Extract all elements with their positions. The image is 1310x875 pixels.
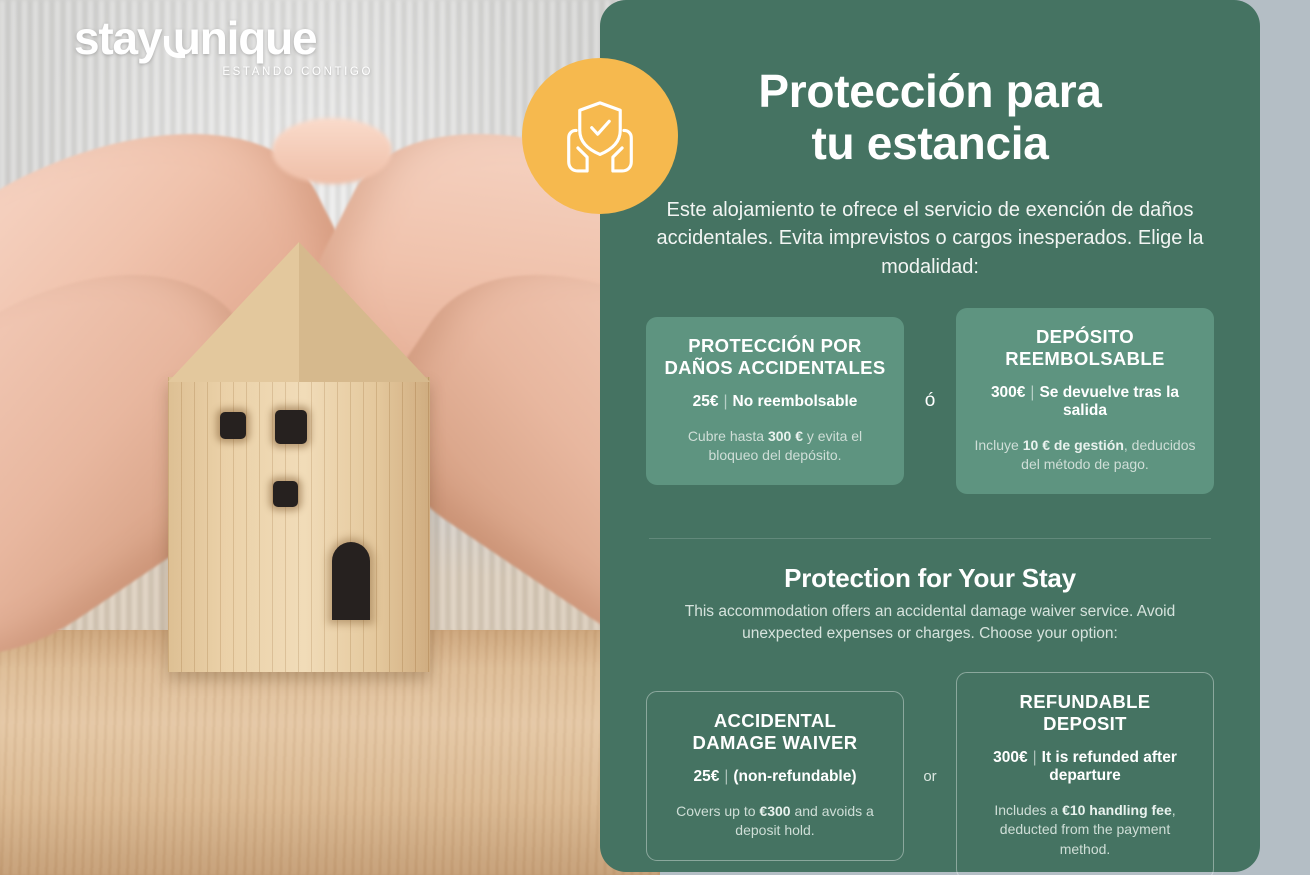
card-title-line-2: DAÑOS ACCIDENTALES: [664, 357, 885, 378]
card-price-separator: |: [724, 768, 728, 785]
house-window-1: [220, 412, 246, 439]
card-price-amount: 300€: [993, 749, 1027, 766]
card-price-condition: No reembolsable: [733, 393, 858, 410]
card-price-separator: |: [723, 393, 727, 410]
card-title-line-2: REEMBOLSABLE: [1005, 348, 1164, 369]
card-price-condition: (non-refundable): [733, 768, 856, 785]
card-title: DEPÓSITO REEMBOLSABLE: [972, 326, 1198, 370]
card-price-amount: 25€: [693, 768, 719, 785]
card-note: Covers up to €300 and avoids a deposit h…: [663, 802, 887, 841]
card-note-prefix: Incluye: [974, 437, 1022, 453]
brand-wordmark: stay unique: [74, 14, 374, 62]
card-title-line-1: ACCIDENTAL: [714, 710, 836, 731]
option-card-refundable-deposit-es[interactable]: DEPÓSITO REEMBOLSABLE 300€|Se devuelve t…: [956, 308, 1214, 494]
card-price-separator: |: [1033, 749, 1037, 766]
house-roof-shadow: [299, 242, 430, 382]
card-title-line-1: PROTECCIÓN POR: [688, 335, 861, 356]
card-price-condition: Se devuelve tras la salida: [1039, 384, 1179, 419]
card-note: Incluye 10 € de gestión, deducidos del m…: [972, 436, 1198, 475]
brand-tagline: ESTANDO CONTIGO: [74, 66, 374, 78]
title-line-2: tu estancia: [811, 117, 1048, 169]
shield-check-in-hands-icon: [522, 58, 678, 214]
promo-banner: stay unique ESTANDO CONTIGO Protección p…: [0, 0, 1310, 875]
separator-es: ó: [904, 390, 956, 412]
card-title-line-1: DEPÓSITO: [1036, 326, 1134, 347]
card-note: Cubre hasta 300 € y evita el bloqueo del…: [662, 427, 888, 466]
wooden-toy-house: [168, 242, 430, 672]
card-title-line-2: DEPOSIT: [1043, 713, 1127, 734]
card-note-prefix: Includes a: [994, 802, 1062, 818]
intro-paragraph-es: Este alojamiento te ofrece el servicio d…: [652, 196, 1208, 281]
card-note-highlight: €10 handling fee: [1062, 802, 1172, 818]
card-price-amount: 300€: [991, 384, 1025, 401]
card-note-prefix: Covers up to: [676, 803, 759, 819]
brand-logo[interactable]: stay unique ESTANDO CONTIGO: [74, 14, 374, 78]
card-title-line-1: REFUNDABLE: [1020, 691, 1151, 712]
card-note-prefix: Cubre hasta: [688, 428, 768, 444]
card-price-separator: |: [1030, 384, 1034, 401]
card-title: ACCIDENTAL DAMAGE WAIVER: [663, 710, 887, 754]
card-price-amount: 25€: [693, 393, 719, 410]
card-title: REFUNDABLE DEPOSIT: [973, 691, 1197, 735]
options-row-es: PROTECCIÓN POR DAÑOS ACCIDENTALES 25€|No…: [600, 308, 1260, 494]
section-divider: [649, 538, 1211, 539]
page-title: Protección para tu estancia: [670, 0, 1190, 170]
card-title-line-2: DAMAGE WAIVER: [693, 732, 858, 753]
card-note: Includes a €10 handling fee, deducted fr…: [973, 801, 1197, 859]
intro-paragraph-en: This accommodation offers an accidental …: [670, 601, 1190, 645]
house-door: [332, 542, 370, 620]
house-window-2: [275, 410, 307, 444]
option-card-refundable-deposit-en[interactable]: REFUNDABLE DEPOSIT 300€|It is refunded a…: [956, 672, 1214, 875]
card-note-highlight: 10 € de gestión: [1023, 437, 1124, 453]
card-price: 300€|Se devuelve tras la salida: [972, 384, 1198, 420]
page-title-en: Protection for Your Stay: [600, 563, 1260, 594]
card-price: 25€|No reembolsable: [662, 393, 888, 411]
brand-name-part2: unique: [173, 12, 317, 64]
protection-panel: Protección para tu estancia Este alojami…: [600, 0, 1260, 872]
card-note-highlight: 300 €: [768, 428, 803, 444]
option-card-accidental-damage-es[interactable]: PROTECCIÓN POR DAÑOS ACCIDENTALES 25€|No…: [646, 317, 904, 485]
card-price-condition: It is refunded after departure: [1042, 749, 1177, 784]
house-window-3: [273, 481, 298, 507]
separator-en: or: [904, 768, 956, 785]
fingertips-apex: [272, 118, 392, 184]
card-note-highlight: €300: [759, 803, 790, 819]
title-line-1: Protección para: [758, 65, 1101, 117]
brand-name-part1: stay: [74, 12, 161, 64]
card-price: 25€|(non-refundable): [663, 768, 887, 786]
card-title: PROTECCIÓN POR DAÑOS ACCIDENTALES: [662, 335, 888, 379]
card-price: 300€|It is refunded after departure: [973, 749, 1197, 785]
options-row-en: ACCIDENTAL DAMAGE WAIVER 25€|(non-refund…: [600, 672, 1260, 875]
option-card-accidental-damage-en[interactable]: ACCIDENTAL DAMAGE WAIVER 25€|(non-refund…: [646, 691, 904, 861]
